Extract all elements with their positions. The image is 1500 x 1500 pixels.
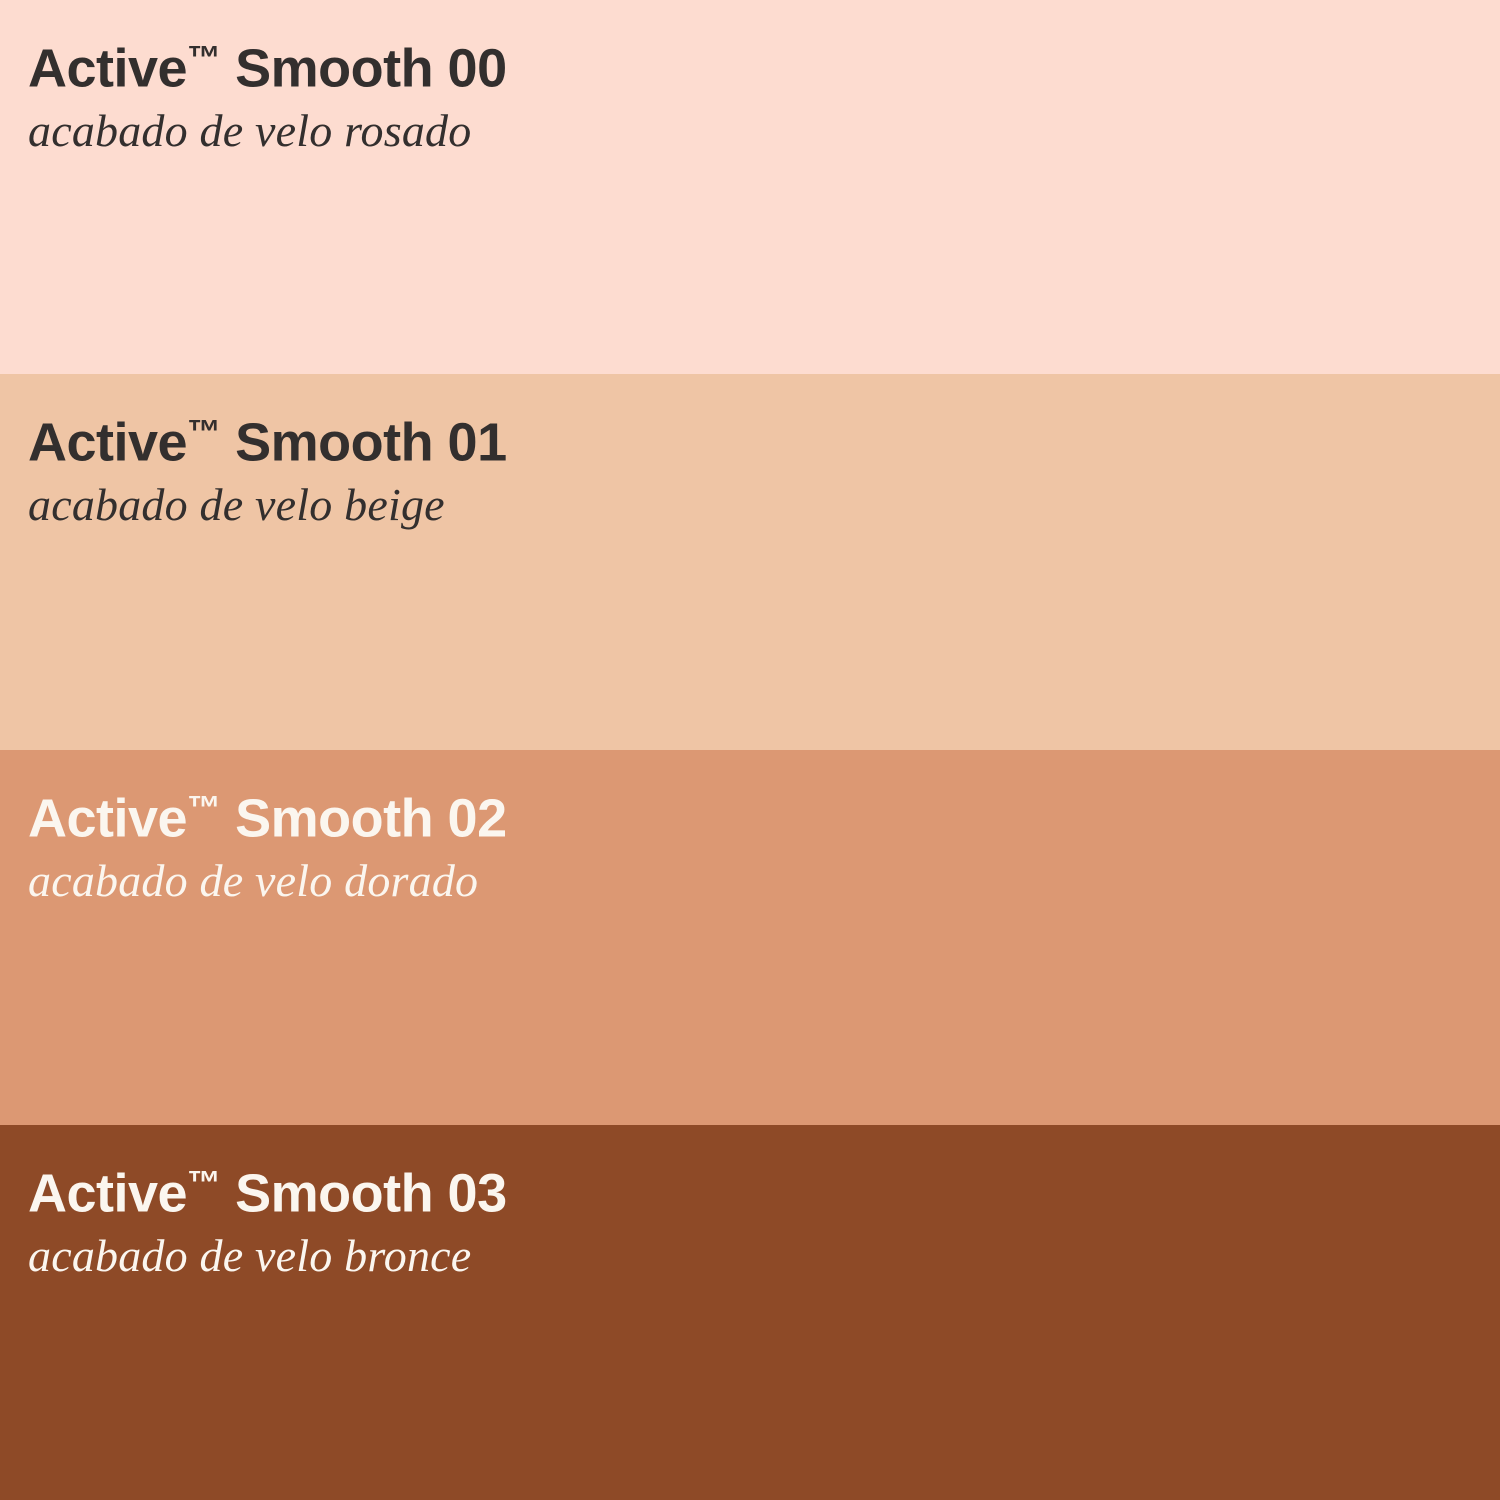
- shade-brand-name-03: Active: [28, 1163, 187, 1223]
- shade-brand-name-02: Active: [28, 788, 187, 848]
- trademark-icon-01: ™: [187, 414, 220, 451]
- shade-finish-02: acabado de velo dorado: [28, 849, 1480, 909]
- shade-finish-01: acabado de velo beige: [28, 473, 1480, 533]
- trademark-icon-02: ™: [187, 790, 220, 827]
- shade-label-group-03: Active™ Smooth 03 acabado de velo bronce: [28, 1153, 1480, 1284]
- shade-finish-00: acabado de velo rosado: [28, 99, 1480, 159]
- shade-label-group-00: Active™ Smooth 00 acabado de velo rosado: [28, 28, 1480, 159]
- shade-number-02: Smooth 02: [235, 788, 507, 848]
- shade-swatch-band-01[interactable]: Active™ Smooth 01 acabado de velo beige: [0, 374, 1500, 750]
- shade-finish-03: acabado de velo bronce: [28, 1224, 1480, 1284]
- shade-brand-name-00: Active: [28, 38, 187, 98]
- trademark-icon-03: ™: [187, 1165, 220, 1202]
- shade-swatch-stack: Active™ Smooth 00 acabado de velo rosado…: [0, 0, 1500, 1500]
- shade-name-02: Active™ Smooth 02: [28, 778, 1480, 849]
- shade-swatch-band-00[interactable]: Active™ Smooth 00 acabado de velo rosado: [0, 0, 1500, 374]
- shade-brand-name-01: Active: [28, 412, 187, 472]
- shade-number-01: Smooth 01: [235, 412, 507, 472]
- shade-label-group-01: Active™ Smooth 01 acabado de velo beige: [28, 402, 1480, 533]
- shade-number-03: Smooth 03: [235, 1163, 507, 1223]
- shade-label-group-02: Active™ Smooth 02 acabado de velo dorado: [28, 778, 1480, 909]
- shade-name-00: Active™ Smooth 00: [28, 28, 1480, 99]
- shade-name-03: Active™ Smooth 03: [28, 1153, 1480, 1224]
- trademark-icon-00: ™: [187, 40, 220, 77]
- shade-number-00: Smooth 00: [235, 38, 507, 98]
- shade-swatch-band-03[interactable]: Active™ Smooth 03 acabado de velo bronce: [0, 1125, 1500, 1500]
- shade-name-01: Active™ Smooth 01: [28, 402, 1480, 473]
- shade-swatch-band-02[interactable]: Active™ Smooth 02 acabado de velo dorado: [0, 750, 1500, 1125]
